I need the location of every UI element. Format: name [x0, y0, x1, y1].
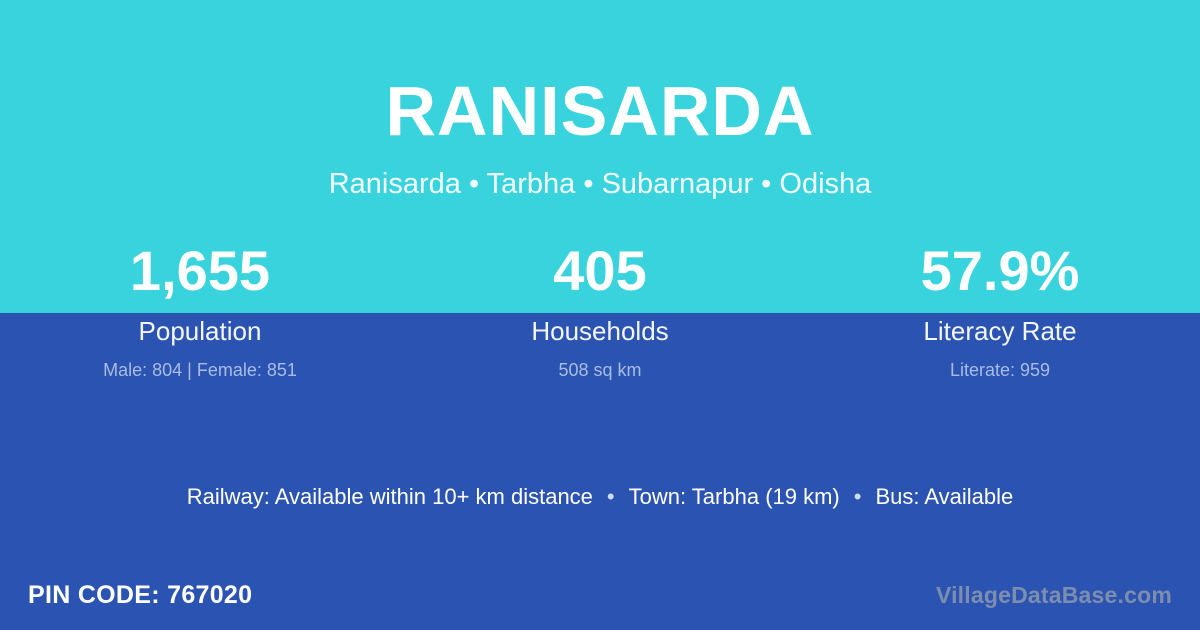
breadcrumb: Ranisarda • Tarbha • Subarnapur • Odisha	[329, 170, 872, 199]
amenity-town: Town: Tarbha (19 km)	[629, 486, 840, 508]
stat-subtext: Literate: 959	[950, 361, 1050, 379]
stat-subtext: Male: 804 | Female: 851	[103, 361, 297, 379]
stat-label: Population	[139, 318, 262, 344]
stat-value: 1,655	[130, 243, 270, 299]
hero-section: RANISARDA Ranisarda • Tarbha • Subarnapu…	[0, 0, 1200, 236]
stat-value: 405	[553, 243, 646, 299]
stats-row: 1,655 Population Male: 804 | Female: 851…	[0, 243, 1200, 379]
stat-label: Households	[531, 318, 668, 344]
stat-literacy-rate: 57.9% Literacy Rate Literate: 959	[800, 243, 1200, 379]
stat-label: Literacy Rate	[923, 318, 1076, 344]
amenity-bus: Bus: Available	[875, 486, 1013, 508]
stat-households: 405 Households 508 sq km	[400, 243, 800, 379]
pin-code: PIN CODE: 767020	[28, 583, 252, 608]
amenity-railway: Railway: Available within 10+ km distanc…	[187, 486, 593, 508]
amenities-line: Railway: Available within 10+ km distanc…	[0, 486, 1200, 508]
bullet-separator-icon: •	[593, 486, 629, 508]
bullet-separator-icon: •	[840, 486, 876, 508]
card-footer: PIN CODE: 767020 VillageDataBase.com	[0, 575, 1200, 615]
village-info-card: RANISARDA Ranisarda • Tarbha • Subarnapu…	[0, 0, 1200, 630]
stat-subtext: 508 sq km	[558, 361, 641, 379]
stat-population: 1,655 Population Male: 804 | Female: 851	[0, 243, 400, 379]
page-title: RANISARDA	[386, 76, 815, 146]
site-brand: VillageDataBase.com	[936, 584, 1172, 607]
stat-value: 57.9%	[921, 243, 1080, 299]
